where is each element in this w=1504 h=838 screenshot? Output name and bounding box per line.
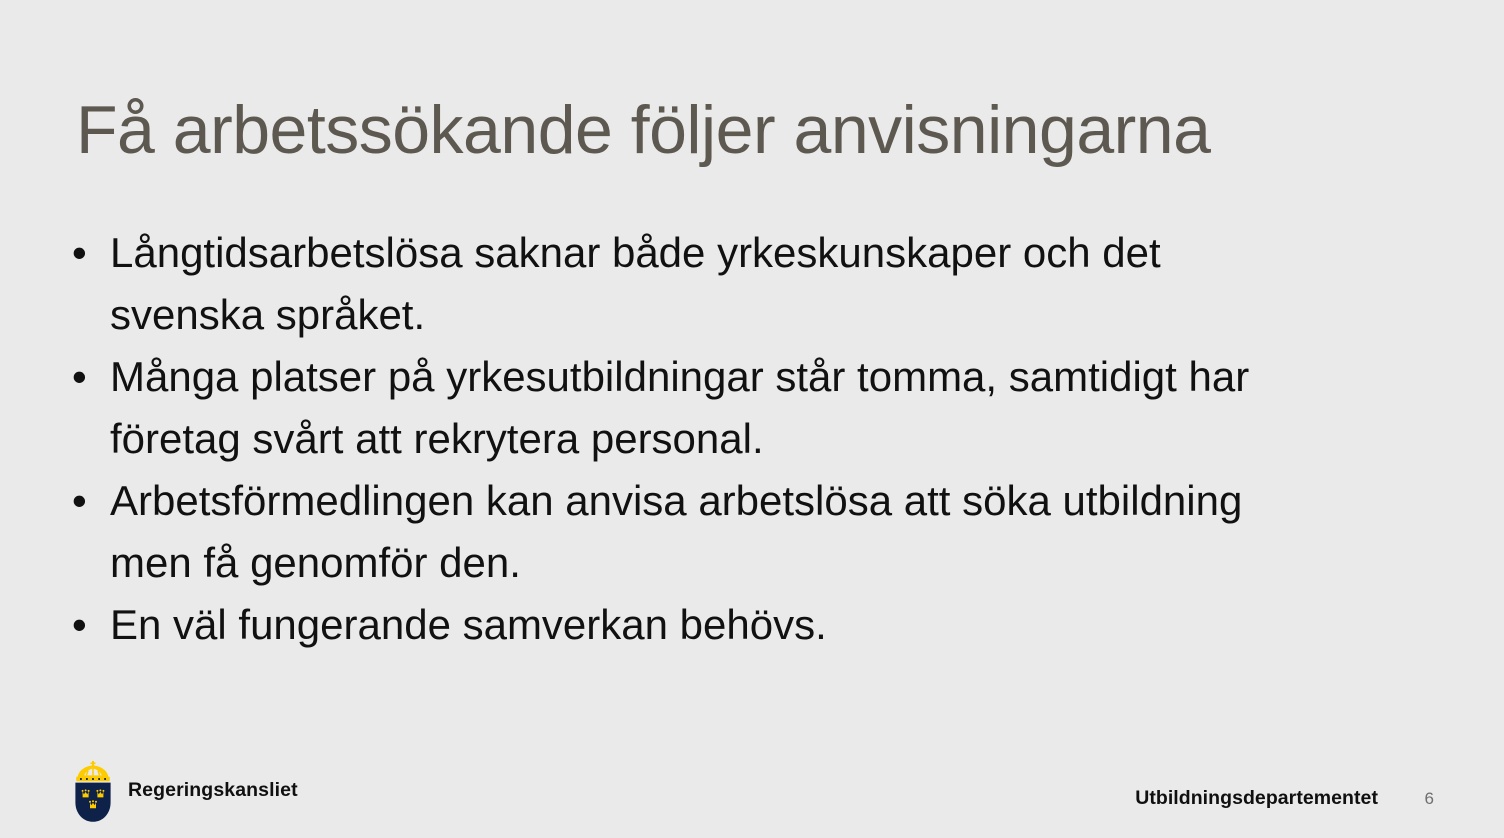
bullet-text: En väl fungerande samverkan behövs.: [110, 594, 1320, 656]
bullet-text: Långtidsarbetslösa saknar både yrkeskuns…: [110, 222, 1320, 346]
brand-lockup: Regeringskansliet: [70, 760, 298, 824]
bullet-dot-icon: •: [72, 594, 98, 656]
slide-footer: Regeringskansliet Utbildningsdepartement…: [0, 746, 1504, 838]
presentation-slide: Få arbetssökande följer anvisningarna • …: [0, 0, 1504, 838]
list-item: • En väl fungerande samverkan behövs.: [70, 594, 1320, 656]
slide-body: • Långtidsarbetslösa saknar både yrkesku…: [70, 222, 1320, 656]
bullet-text: Många platser på yrkesutbildningar står …: [110, 346, 1320, 470]
bullet-dot-icon: •: [72, 222, 98, 284]
slide-number: 6: [1425, 790, 1434, 807]
brand-name: Regeringskansliet: [128, 781, 298, 803]
list-item: • Arbetsförmedlingen kan anvisa arbetslö…: [70, 470, 1320, 594]
page-title: Få arbetssökande följer anvisningarna: [76, 90, 1416, 170]
bullet-dot-icon: •: [72, 470, 98, 532]
bullet-dot-icon: •: [72, 346, 98, 408]
bullet-list: • Långtidsarbetslösa saknar både yrkesku…: [70, 222, 1320, 656]
swedish-three-crowns-emblem-icon: [70, 760, 116, 824]
list-item: • Långtidsarbetslösa saknar både yrkesku…: [70, 222, 1320, 346]
department-label: Utbildningsdepartementet: [1135, 789, 1378, 809]
bullet-text: Arbetsförmedlingen kan anvisa arbetslösa…: [110, 470, 1320, 594]
list-item: • Många platser på yrkesutbildningar stå…: [70, 346, 1320, 470]
